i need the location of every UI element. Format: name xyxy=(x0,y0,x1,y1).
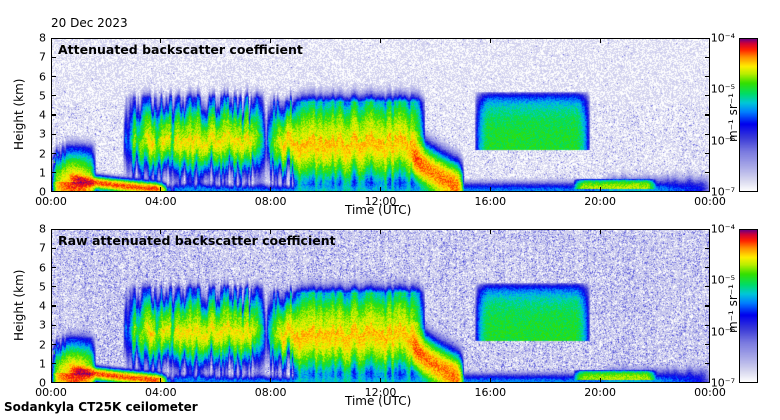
y-tick-label: 4 xyxy=(39,300,46,313)
y-tick-major-right xyxy=(705,76,710,77)
y-tick-major xyxy=(51,191,56,192)
x-tick-label: 12:00 xyxy=(365,195,397,208)
y-tick-major xyxy=(51,114,56,115)
instrument-label: Sodankyla CT25K ceilometer xyxy=(4,400,198,414)
y-tick-label: 7 xyxy=(39,51,46,64)
y-tick-major xyxy=(51,267,56,268)
x-tick-major-top xyxy=(490,38,491,43)
ceilometer-figure: 20 Dec 2023 Sodankyla CT25K ceilometer A… xyxy=(0,0,780,420)
y-tick-label: 0 xyxy=(39,377,46,390)
y-tick-major-right xyxy=(705,172,710,173)
y-tick-major xyxy=(51,344,56,345)
x-tick-major xyxy=(600,378,601,383)
x-tick-major-top xyxy=(380,38,381,43)
x-tick-major xyxy=(160,187,161,192)
y-tick-label: 2 xyxy=(39,338,46,351)
y-tick-label: 1 xyxy=(39,357,46,370)
x-tick-major xyxy=(160,378,161,383)
x-tick-label: 12:00 xyxy=(365,386,397,399)
y-tick-major xyxy=(51,248,56,249)
y-tick-major xyxy=(51,286,56,287)
y-tick-major xyxy=(51,363,56,364)
y-tick-label: 3 xyxy=(39,128,46,141)
y-tick-major-right xyxy=(705,344,710,345)
colorbar-gradient-panel-2 xyxy=(740,230,757,382)
y-tick-major-right xyxy=(705,153,710,154)
colorbar-panel-2 xyxy=(739,229,758,383)
y-tick-label: 7 xyxy=(39,242,46,255)
y-axis-label-panel-1: Height (km) xyxy=(12,79,26,150)
panel-title-attenuated-backscatter: Attenuated backscatter coefficient xyxy=(58,42,303,57)
y-tick-label: 0 xyxy=(39,186,46,199)
x-tick-label: 08:00 xyxy=(255,386,287,399)
y-tick-major xyxy=(51,57,56,58)
colorbar-tick-label: 10⁻⁶ xyxy=(707,325,735,338)
x-tick-label: 04:00 xyxy=(145,195,177,208)
y-axis-label-panel-2: Height (km) xyxy=(12,270,26,341)
heatmap-canvas-attenuated-backscatter xyxy=(52,39,710,192)
date-label: 20 Dec 2023 xyxy=(51,16,128,30)
x-tick-major xyxy=(380,378,381,383)
x-tick-major-top xyxy=(490,229,491,234)
y-tick-major xyxy=(51,305,56,306)
colorbar-tick-label: 10⁻⁶ xyxy=(707,134,735,147)
x-tick-label: 20:00 xyxy=(584,386,616,399)
colorbar-tick-label: 10⁻⁴ xyxy=(707,223,735,236)
y-tick-major-right xyxy=(705,267,710,268)
y-tick-major xyxy=(51,38,56,39)
y-tick-label: 4 xyxy=(39,109,46,122)
y-tick-major-right xyxy=(705,57,710,58)
heatmap-canvas-raw-attenuated-backscatter xyxy=(52,230,710,383)
y-tick-major xyxy=(51,325,56,326)
y-tick-major xyxy=(51,172,56,173)
y-tick-label: 2 xyxy=(39,147,46,160)
y-tick-label: 6 xyxy=(39,261,46,274)
x-tick-major xyxy=(270,378,271,383)
colorbar-tick-label: 10⁻⁵ xyxy=(707,83,735,96)
y-tick-major xyxy=(51,134,56,135)
x-tick-major xyxy=(490,187,491,192)
y-tick-label: 8 xyxy=(39,32,46,45)
x-tick-label: 16:00 xyxy=(474,386,506,399)
y-tick-major xyxy=(51,229,56,230)
x-tick-major xyxy=(380,187,381,192)
y-tick-major-right xyxy=(705,363,710,364)
panel-title-raw-attenuated-backscatter: Raw attenuated backscatter coefficient xyxy=(58,233,336,248)
y-tick-label: 5 xyxy=(39,280,46,293)
x-tick-label: 04:00 xyxy=(145,386,177,399)
plot-area-raw-attenuated-backscatter[interactable] xyxy=(51,229,710,383)
y-tick-major xyxy=(51,382,56,383)
colorbar-panel-1 xyxy=(739,38,758,192)
colorbar-tick-label: 10⁻⁴ xyxy=(707,32,735,45)
y-tick-major xyxy=(51,95,56,96)
y-tick-label: 3 xyxy=(39,319,46,332)
y-tick-label: 1 xyxy=(39,166,46,179)
x-tick-label: 16:00 xyxy=(474,195,506,208)
x-tick-label: 20:00 xyxy=(584,195,616,208)
x-tick-major xyxy=(490,378,491,383)
plot-area-attenuated-backscatter[interactable] xyxy=(51,38,710,192)
x-tick-major-top xyxy=(380,229,381,234)
y-tick-label: 8 xyxy=(39,223,46,236)
x-tick-major-top xyxy=(600,38,601,43)
y-tick-label: 5 xyxy=(39,89,46,102)
colorbar-tick-label: 10⁻⁵ xyxy=(707,274,735,287)
y-tick-major-right xyxy=(705,114,710,115)
y-tick-label: 6 xyxy=(39,70,46,83)
colorbar-tick-label: 10⁻⁷ xyxy=(707,186,735,199)
y-tick-major-right xyxy=(705,248,710,249)
x-tick-major xyxy=(270,187,271,192)
x-tick-major-top xyxy=(600,229,601,234)
colorbar-gradient-panel-1 xyxy=(740,39,757,191)
colorbar-tick-label: 10⁻⁷ xyxy=(707,377,735,390)
y-tick-major xyxy=(51,153,56,154)
y-tick-major xyxy=(51,76,56,77)
x-tick-major xyxy=(600,187,601,192)
y-tick-major-right xyxy=(705,305,710,306)
x-tick-label: 08:00 xyxy=(255,195,287,208)
